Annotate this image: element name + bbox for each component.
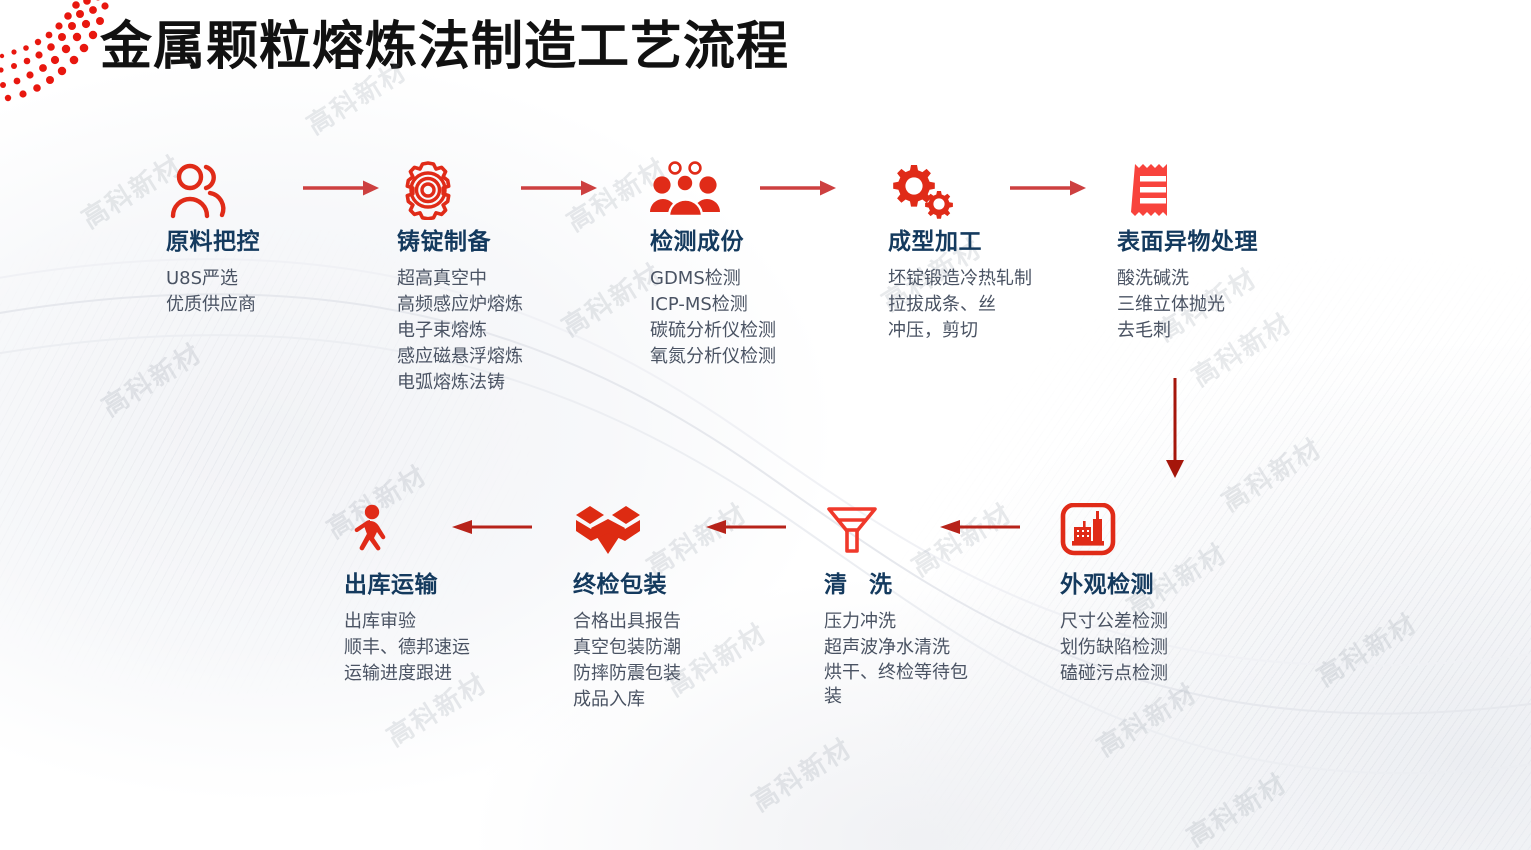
step-title: 铸锭制备 [397,222,523,256]
arrow-right-1 [303,178,379,198]
list-item: 去毛刺 [1117,318,1258,344]
list-item: 成品入库 [573,687,681,713]
list-item: 烘干、终检等待包装 [824,661,984,709]
step-detail-list: 合格出具报告 真空包装防潮 防摔防震包装 成品入库 [573,609,681,713]
list-item: 出库审验 [344,609,470,635]
background-stripes-right [671,120,1531,850]
flow-step-composition-inspection[interactable]: 检测成份 GDMS检测 ICP-MS检测 碳硫分析仪检测 氧氮分析仪检测 [650,160,776,370]
flow-step-outbound-transport[interactable]: 出库运输 出库审验 顺丰、德邦速运 运输进度跟进 [344,503,470,687]
list-item: 冲压，剪切 [888,318,1032,344]
page-title: 金属颗粒熔炼法制造工艺流程 [100,4,789,79]
step-detail-list: 超高真空中 高频感应炉熔炼 电子束熔炼 感应磁悬浮熔炼 电弧熔炼法铸 [397,266,523,396]
flow-step-appearance-inspection[interactable]: 外观检测 尺寸公差检测 划伤缺陷检测 磕碰污点检测 [1060,503,1168,687]
open-box-icon [573,503,681,565]
flow-step-ingot-preparation[interactable]: 铸锭制备 超高真空中 高频感应炉熔炼 电子束熔炼 感应磁悬浮熔炼 电弧熔炼法铸 [397,160,523,396]
list-item: 尺寸公差检测 [1060,609,1168,635]
slide-canvas: 金属颗粒熔炼法制造工艺流程 高科新材高科新材高科新材高科新材高科新材高科新材高科… [0,0,1531,850]
step-title: 清洗 [824,565,984,599]
flow-step-raw-material-control[interactable]: 原料把控 U8S严选 优质供应商 [166,160,260,318]
list-item: 超高真空中 [397,266,523,292]
watermark-text: 高科新材 [744,728,859,819]
background-curve-lines [0,0,1531,850]
arrow-down-row1-to-row2 [1164,378,1186,478]
receipt-icon [1117,160,1258,222]
step-detail-list: 尺寸公差检测 划伤缺陷检测 磕碰污点检测 [1060,609,1168,687]
list-item: GDMS检测 [650,266,776,292]
step-title: 成型加工 [888,222,1032,256]
list-item: 酸洗碱洗 [1117,266,1258,292]
list-item: 超声波净水清洗 [824,635,984,661]
list-item: 顺丰、德邦速运 [344,635,470,661]
gear-target-icon [397,160,523,222]
list-item: 真空包装防潮 [573,635,681,661]
list-item: 优质供应商 [166,292,260,318]
watermark-text: 高科新材 [1309,603,1424,694]
arrow-right-4 [1010,178,1086,198]
list-item: 拉拔成条、丝 [888,292,1032,318]
list-item: 磕碰污点检测 [1060,661,1168,687]
list-item: 三维立体抛光 [1117,292,1258,318]
list-item: 感应磁悬浮熔炼 [397,344,523,370]
list-item: 电弧熔炼法铸 [397,370,523,396]
list-item: 碳硫分析仪检测 [650,318,776,344]
watermark-text: 高科新材 [1179,763,1294,850]
list-item: 氧氮分析仪检测 [650,344,776,370]
step-title: 外观检测 [1060,565,1168,599]
flow-step-surface-foreign-matter-treatment[interactable]: 表面异物处理 酸洗碱洗 三维立体抛光 去毛刺 [1117,160,1258,344]
flow-step-final-inspection-packaging[interactable]: 终检包装 合格出具报告 真空包装防潮 防摔防震包装 成品入库 [573,503,681,713]
list-item: 运输进度跟进 [344,661,470,687]
list-item: 防摔防震包装 [573,661,681,687]
background-swirl [0,0,1531,850]
arrow-right-3 [760,178,836,198]
step-title: 检测成份 [650,222,776,256]
step-title: 出库运输 [344,565,470,599]
watermark-text: 高科新材 [94,333,209,424]
background-decoration [0,0,1531,850]
step-detail-list: 出库审验 顺丰、德邦速运 运输进度跟进 [344,609,470,687]
list-item: ICP-MS检测 [650,292,776,318]
list-item: 高频感应炉熔炼 [397,292,523,318]
step-detail-list: 压力冲洗 超声波净水清洗 烘干、终检等待包装 [824,609,984,709]
watermark-text: 高科新材 [1214,428,1329,519]
step-detail-list: 酸洗碱洗 三维立体抛光 去毛刺 [1117,266,1258,344]
step-title: 原料把控 [166,222,260,256]
step-detail-list: 坯锭锻造冷热轧制 拉拔成条、丝 冲压，剪切 [888,266,1032,344]
flow-step-cleaning[interactable]: 清洗 压力冲洗 超声波净水清洗 烘干、终检等待包装 [824,503,984,709]
people-group-icon [650,160,776,222]
funnel-icon [824,503,984,565]
two-people-outline-icon [166,160,260,222]
list-item: 电子束熔炼 [397,318,523,344]
step-title: 终检包装 [573,565,681,599]
list-item: 压力冲洗 [824,609,984,635]
list-item: 坯锭锻造冷热轧制 [888,266,1032,292]
arrow-left-cleaning-to-packaging [706,517,786,537]
list-item: U8S严选 [166,266,260,292]
step-detail-list: U8S严选 优质供应商 [166,266,260,318]
step-detail-list: GDMS检测 ICP-MS检测 碳硫分析仪检测 氧氮分析仪检测 [650,266,776,370]
list-item: 划伤缺陷检测 [1060,635,1168,661]
walking-person-icon [344,503,470,565]
step-title: 表面异物处理 [1117,222,1258,256]
factory-badge-icon [1060,503,1168,565]
arrow-right-2 [521,178,597,198]
list-item: 合格出具报告 [573,609,681,635]
